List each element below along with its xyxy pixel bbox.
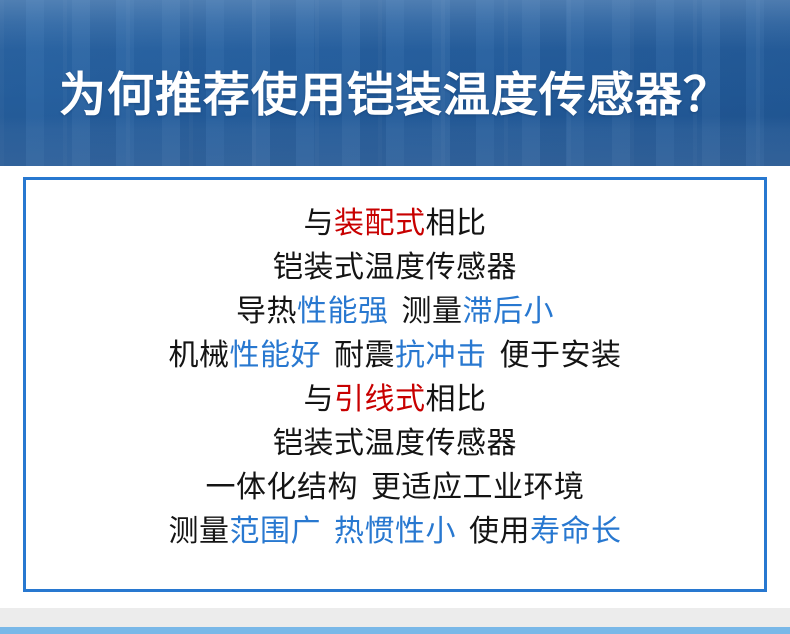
feature-text-segment: 相比: [426, 202, 487, 246]
content-card-border: 与装配式相比铠装式温度传感器导热性能强测量滞后小机械性能好耐震抗冲击便于安装与引…: [23, 177, 767, 592]
hero-banner: 为何推荐使用铠装温度传感器？: [0, 0, 790, 166]
feature-text-segment: 性能好: [230, 334, 322, 378]
feature-text-segment: 更适应工业环境: [371, 466, 585, 510]
feature-line: 与装配式相比: [304, 202, 487, 246]
feature-text-segment: 铠装式温度传感器: [273, 246, 517, 290]
feature-line: 导热性能强测量滞后小: [236, 290, 554, 334]
feature-line: 与引线式相比: [304, 378, 487, 422]
feature-text-segment: 抗冲击: [395, 334, 487, 378]
feature-text-segment: 引线式: [334, 378, 426, 422]
feature-text-segment: 机械: [169, 334, 230, 378]
feature-line: 测量范围广热惯性小使用寿命长: [169, 510, 622, 554]
feature-text-segment: 范围广: [230, 510, 322, 554]
page-root: 为何推荐使用铠装温度传感器？ 与装配式相比铠装式温度传感器导热性能强测量滞后小机…: [0, 0, 790, 634]
feature-text-segment: 耐震: [334, 334, 395, 378]
feature-text-segment: 与: [304, 202, 335, 246]
feature-text-segment: 装配式: [334, 202, 426, 246]
feature-text-segment: 导热: [236, 290, 297, 334]
content-card: 与装配式相比铠装式温度传感器导热性能强测量滞后小机械性能好耐震抗冲击便于安装与引…: [12, 166, 778, 608]
feature-text-block: 与装配式相比铠装式温度传感器导热性能强测量滞后小机械性能好耐震抗冲击便于安装与引…: [26, 202, 764, 554]
feature-line: 铠装式温度传感器: [273, 422, 517, 466]
feature-text-segment: 测量: [402, 290, 463, 334]
feature-text-segment: 滞后小: [463, 290, 555, 334]
feature-text-segment: 铠装式温度传感器: [273, 422, 517, 466]
feature-text-segment: 相比: [426, 378, 487, 422]
footer-blue-bar: [0, 627, 790, 634]
feature-text-segment: 与: [304, 378, 335, 422]
feature-line: 机械性能好耐震抗冲击便于安装: [169, 334, 622, 378]
feature-text-segment: 便于安装: [500, 334, 622, 378]
feature-text-segment: 使用: [469, 510, 530, 554]
footer-gray-bar: [0, 608, 790, 627]
feature-text-segment: 寿命长: [530, 510, 622, 554]
page-title: 为何推荐使用铠装温度传感器？: [0, 0, 790, 166]
feature-text-segment: 一体化结构: [206, 466, 359, 510]
feature-line: 铠装式温度传感器: [273, 246, 517, 290]
feature-text-segment: 性能强: [297, 290, 389, 334]
feature-text-segment: 测量: [169, 510, 230, 554]
feature-text-segment: 热惯性小: [334, 510, 456, 554]
feature-line: 一体化结构更适应工业环境: [206, 466, 585, 510]
